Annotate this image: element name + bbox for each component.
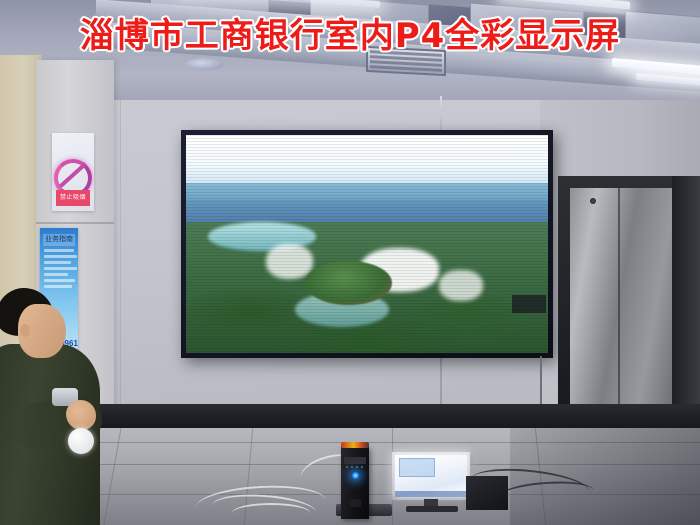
screen-overlay-block (512, 295, 546, 313)
wall-seam (120, 100, 121, 405)
monitor-window (399, 458, 436, 477)
no-smoking-sign: 禁止吸烟 (52, 133, 94, 211)
elevator-door-split (618, 188, 620, 428)
elevator-side-wall (672, 176, 700, 428)
pc-front-ports (346, 466, 364, 468)
power-led-icon (352, 472, 359, 479)
pc-front-panel (349, 499, 361, 507)
photo-scene: 禁止吸烟 业务指南 4400 9961 (0, 0, 700, 525)
monitor-base (406, 506, 458, 512)
equipment-box (466, 476, 508, 510)
screen-waterfall (439, 270, 482, 301)
poster-title: 业务指南 (43, 234, 75, 246)
items-on-pc (341, 442, 369, 448)
elevator-door-frame (558, 176, 690, 428)
held-object (68, 428, 94, 454)
screen-island (305, 261, 392, 305)
pc-drive-bay (344, 457, 366, 464)
pc-tower[interactable] (341, 447, 369, 519)
elevator-indicator-icon (590, 198, 596, 204)
person-ear (20, 324, 30, 337)
screen-waterfall (266, 244, 313, 279)
signal-cable (540, 356, 542, 408)
person-hand (66, 400, 96, 430)
led-screen-content (186, 135, 548, 353)
floor-cable (232, 503, 310, 523)
ceiling-downlight (186, 58, 224, 70)
no-smoking-label: 禁止吸烟 (56, 190, 90, 206)
computer-monitor[interactable] (392, 452, 470, 500)
elevator-doors[interactable] (570, 188, 680, 428)
person (0, 288, 112, 525)
monitor-taskbar (395, 491, 467, 497)
title-overlay: 淄博市工商银行室内P4全彩显示屏 (0, 8, 700, 57)
column-seam (36, 222, 114, 224)
monitor-screen (395, 455, 467, 497)
led-display-panel[interactable] (181, 130, 553, 358)
